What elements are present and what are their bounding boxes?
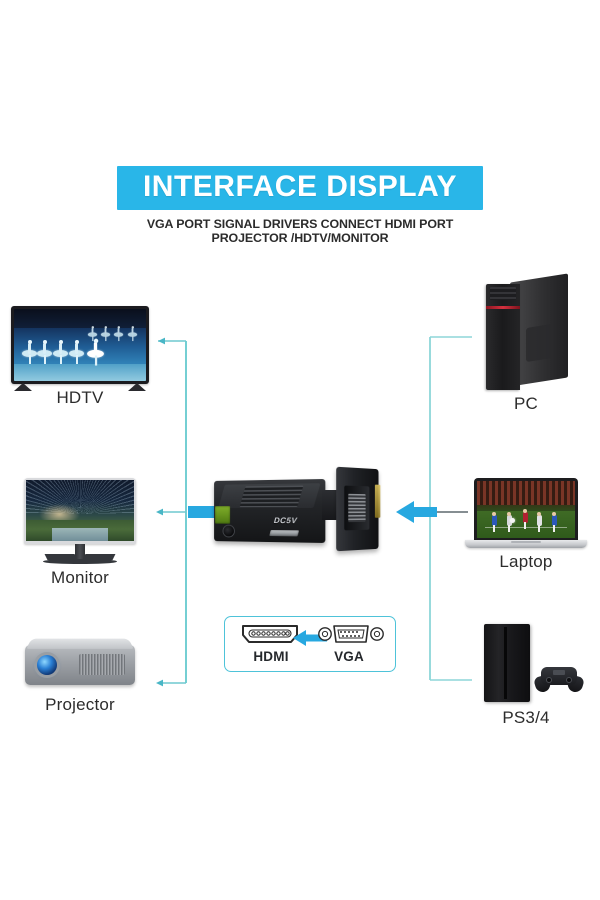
device-pc: PC	[452, 278, 600, 414]
device-label-projector: Projector	[0, 695, 160, 715]
converter-body: DC5V	[214, 479, 325, 543]
legend-label-hdmi: HDMI	[235, 649, 307, 664]
subtitle-line-1: VGA PORT SIGNAL DRIVERS CONNECT HDMI POR…	[0, 217, 600, 232]
connection-diagram-lines	[0, 0, 600, 900]
legend-label-vga: VGA	[313, 649, 385, 664]
subtitle-line-2: PROJECTOR /HDTV/MONITOR	[0, 231, 600, 246]
converter-vents	[240, 486, 304, 508]
monitor-icon	[0, 478, 160, 564]
device-label-ps: PS3/4	[452, 708, 600, 728]
device-label-hdtv: HDTV	[0, 388, 160, 408]
power-label: DC5V	[273, 516, 299, 525]
micro-usb-power-port	[269, 530, 299, 536]
desktop-tower-icon	[452, 278, 600, 390]
legend-hdmi-vga: HDMI VGA	[224, 616, 396, 672]
device-laptop: Laptop	[452, 478, 600, 572]
game-console-icon	[452, 624, 600, 704]
device-monitor: Monitor	[0, 478, 160, 588]
laptop-icon	[452, 478, 600, 548]
vga-male-connector	[336, 467, 378, 552]
arrow-into-converter-right	[396, 501, 437, 523]
hdmi-connector-icon	[239, 622, 301, 651]
vga-to-hdmi-converter: DC5V	[206, 466, 402, 562]
hdmi-output-port	[215, 506, 230, 524]
page-title: INTERFACE DISPLAY	[143, 171, 457, 203]
vga-connector-icon	[317, 621, 385, 652]
device-hdtv: HDTV	[0, 306, 160, 408]
device-playstation: PS3/4	[452, 624, 600, 728]
device-label-monitor: Monitor	[0, 568, 160, 588]
device-label-pc: PC	[452, 394, 600, 414]
device-projector: Projector	[0, 645, 160, 715]
device-label-laptop: Laptop	[452, 552, 600, 572]
projector-icon	[21, 645, 139, 691]
television-icon	[0, 306, 160, 384]
audio-jack-port	[223, 526, 233, 537]
infographic-page: INTERFACE DISPLAY VGA PORT SIGNAL DRIVER…	[0, 0, 600, 900]
subtitle: VGA PORT SIGNAL DRIVERS CONNECT HDMI POR…	[0, 217, 600, 246]
gamepad-icon	[532, 664, 586, 690]
title-banner: INTERFACE DISPLAY	[117, 166, 483, 210]
header: INTERFACE DISPLAY VGA PORT SIGNAL DRIVER…	[0, 166, 600, 246]
